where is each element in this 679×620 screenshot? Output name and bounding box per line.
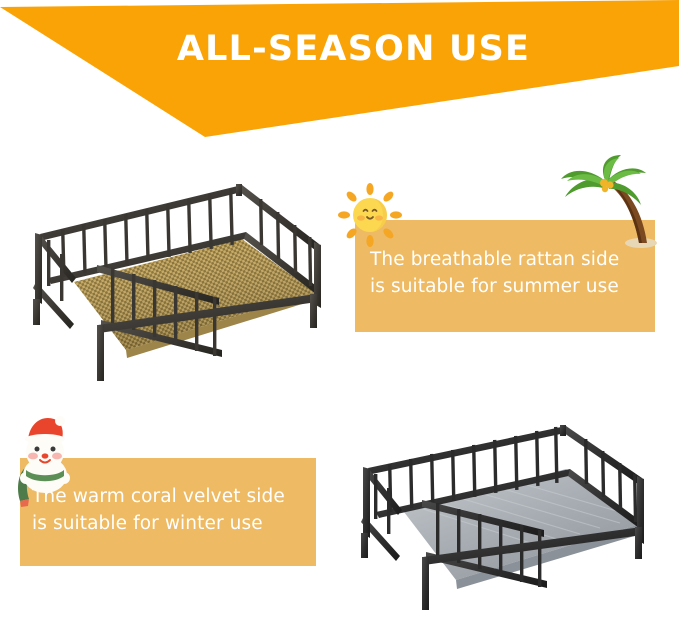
- header-banner: [0, 0, 679, 150]
- palm-tree-icon: [547, 155, 665, 250]
- sun-icon: [338, 183, 402, 247]
- rattan-dog-bed-image: [14, 182, 344, 397]
- snowman-icon: [8, 415, 78, 510]
- winter-line-2: is suitable for winter use: [32, 510, 285, 537]
- summer-callout-text: The breathable rattan side is suitable f…: [370, 246, 619, 300]
- summer-line-1: The breathable rattan side: [370, 246, 619, 273]
- page-title: ALL-SEASON USE: [0, 29, 679, 69]
- velvet-dog-bed-image: [344, 424, 674, 620]
- summer-line-2: is suitable for summer use: [370, 273, 619, 300]
